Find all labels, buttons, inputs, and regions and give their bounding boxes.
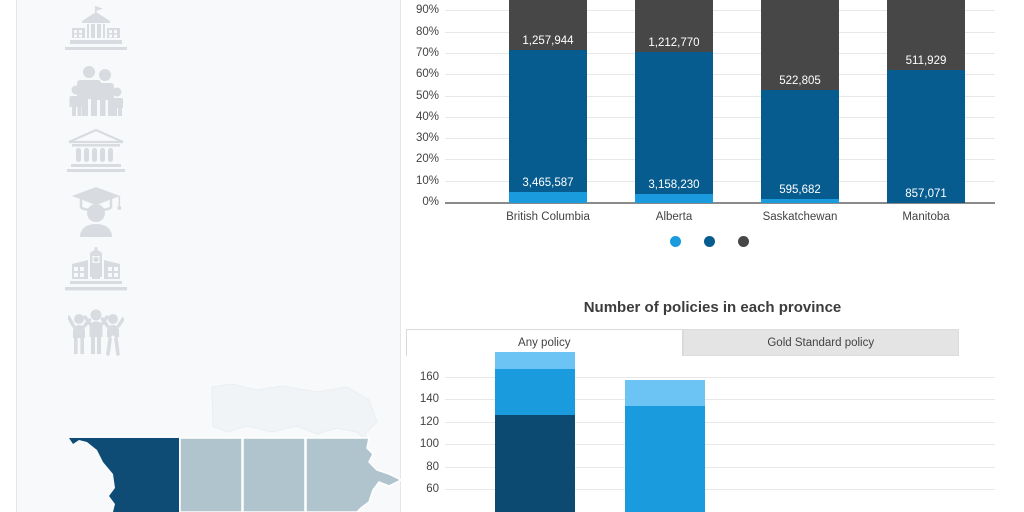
y-tick-label: 50% <box>416 90 439 102</box>
family-icon <box>57 62 135 120</box>
legend-item[interactable] <box>704 236 721 247</box>
y-tick-label: 120 <box>420 416 439 428</box>
y-tick-label: 160 <box>420 371 439 383</box>
bar-value-label: 3,158,230 <box>635 179 713 192</box>
legend-item[interactable] <box>670 236 687 247</box>
legend-swatch-icon <box>738 236 749 247</box>
bar-column[interactable]: 3,158,2301,212,770 <box>635 0 713 203</box>
legend-swatch-icon <box>704 236 715 247</box>
stat-row <box>17 242 402 302</box>
bottom-chart-y-axis: 6080100120140160 <box>401 370 445 512</box>
bar-segment[interactable] <box>887 70 965 203</box>
institution-icon <box>57 122 135 180</box>
legend-swatch-icon <box>670 236 681 247</box>
western-canada-map <box>17 382 402 512</box>
bar-segment[interactable] <box>625 406 705 512</box>
bar-column[interactable]: 595,682522,805 <box>761 0 839 203</box>
stat-text <box>135 182 140 185</box>
bar-value-label: 595,682 <box>761 184 839 197</box>
school-icon <box>57 242 135 300</box>
x-category-label: Saskatchewan <box>735 211 865 223</box>
bottom-chart-plot <box>445 370 995 512</box>
bar-column[interactable] <box>625 370 705 512</box>
y-tick-label: 30% <box>416 132 439 144</box>
top-chart-legend <box>401 236 1024 247</box>
policies-per-province-chart: Number of policies in each province Any … <box>401 292 1024 512</box>
policy-tabs: Any policyGold Standard policy <box>406 329 959 356</box>
bottom-chart-title: Number of policies in each province <box>401 299 1024 316</box>
stat-row <box>17 182 402 242</box>
map-background-region <box>212 384 377 444</box>
stat-row <box>17 302 402 362</box>
graduate-icon <box>57 182 135 240</box>
bar-value-label: 857,071 <box>887 188 965 201</box>
x-category-label: Manitoba <box>861 211 991 223</box>
city-hall-icon <box>57 2 135 60</box>
top-chart-y-axis: 0%10%20%30%40%50%60%70%80%90% <box>401 0 445 203</box>
stats-sidebar <box>16 0 401 512</box>
bar-column[interactable] <box>495 370 575 512</box>
bar-segment[interactable] <box>761 90 839 199</box>
map-region-manitoba[interactable] <box>306 438 401 512</box>
map-region-british-columbia[interactable] <box>53 438 179 512</box>
map-region-saskatchewan[interactable] <box>243 438 305 512</box>
tab-gold-standard-policy[interactable]: Gold Standard policy <box>683 329 960 356</box>
y-tick-label: 140 <box>420 393 439 405</box>
population-protection-chart: 0%10%20%30%40%50%60%70%80%90% 3,465,5871… <box>401 0 1024 265</box>
bar-value-label: 1,212,770 <box>635 37 713 50</box>
map-region-alberta[interactable] <box>180 438 242 512</box>
bar-column[interactable]: 857,071511,929 <box>887 0 965 203</box>
bar-segment[interactable] <box>625 380 705 406</box>
y-tick-label: 20% <box>416 153 439 165</box>
y-tick-label: 0% <box>422 196 439 208</box>
bar-value-label: 511,929 <box>887 55 965 68</box>
stat-row <box>17 62 402 122</box>
bar-segment[interactable] <box>635 194 713 203</box>
y-tick-label: 90% <box>416 4 439 16</box>
y-tick-label: 70% <box>416 47 439 59</box>
y-tick-label: 100 <box>420 438 439 450</box>
bar-segment[interactable] <box>509 192 587 203</box>
bar-value-label: 522,805 <box>761 75 839 88</box>
stat-text <box>135 302 140 305</box>
bar-segment[interactable] <box>495 352 575 369</box>
top-chart-plot: 3,465,5871,257,944British Columbia3,158,… <box>445 0 995 203</box>
bar-segment[interactable] <box>761 199 839 203</box>
stats-list <box>17 0 402 362</box>
x-category-label: Alberta <box>609 211 739 223</box>
stat-text <box>135 122 140 125</box>
y-tick-label: 80 <box>426 461 439 473</box>
legend-item[interactable] <box>738 236 755 247</box>
bar-segment[interactable] <box>635 52 713 194</box>
dashboard-page: 0%10%20%30%40%50%60%70%80%90% 3,465,5871… <box>0 0 1024 512</box>
stat-text <box>135 2 140 5</box>
charts-column: 0%10%20%30%40%50%60%70%80%90% 3,465,5871… <box>401 0 1024 512</box>
stat-text <box>135 242 140 245</box>
y-tick-label: 10% <box>416 175 439 187</box>
y-tick-label: 60% <box>416 68 439 80</box>
x-category-label: British Columbia <box>483 211 613 223</box>
y-tick-label: 80% <box>416 26 439 38</box>
children-icon <box>57 302 135 360</box>
bar-segment[interactable] <box>509 50 587 193</box>
map-svg <box>17 382 402 512</box>
y-tick-label: 40% <box>416 111 439 123</box>
bar-segment[interactable] <box>495 415 575 512</box>
bar-segment[interactable] <box>495 369 575 415</box>
bar-value-label: 1,257,944 <box>509 35 587 48</box>
stat-text <box>135 62 140 65</box>
stat-row <box>17 2 402 62</box>
y-tick-label: 60 <box>426 483 439 495</box>
bar-value-label: 3,465,587 <box>509 177 587 190</box>
stat-row <box>17 122 402 182</box>
bar-column[interactable]: 3,465,5871,257,944 <box>509 0 587 203</box>
